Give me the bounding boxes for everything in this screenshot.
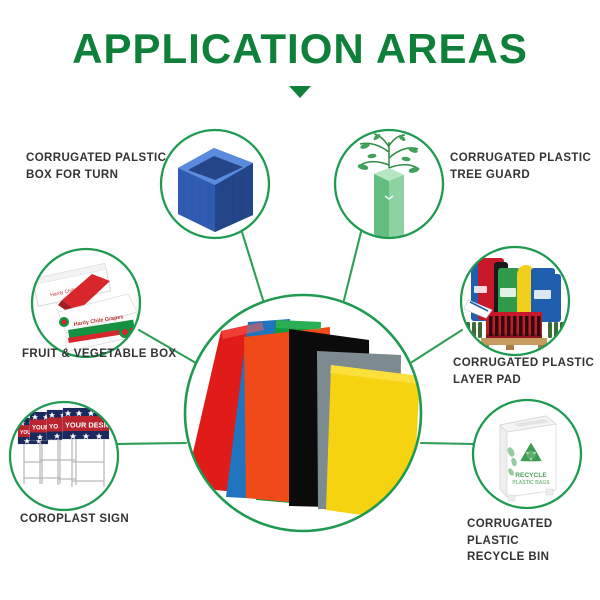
node-coroplast-sign[interactable]: YOU: [10, 402, 118, 510]
node-recycle-bin[interactable]: RECYCLE PLASTIC BAGS: [473, 400, 581, 508]
node-fruit-vegetable-box[interactable]: Hardy Chile Grapes Hardy Chile Grapes: [32, 249, 140, 357]
label-tree-guard: CORRUGATED PLASTIC TREE GUARD: [450, 150, 591, 183]
bin-text-secondary: PLASTIC BAGS: [512, 480, 550, 486]
label-coroplast-sign: COROPLAST SIGN: [20, 511, 129, 528]
node-tree-guard[interactable]: [335, 130, 443, 242]
bin-text-primary: RECYCLE: [515, 472, 547, 479]
label-box-for-turn: CORRUGATED PALSTIC BOX FOR TURN: [26, 150, 166, 183]
sheet-yellow: [326, 365, 420, 522]
svg-text:YO: YO: [49, 424, 58, 431]
label-layer-pad: CORRUGATED PLASTIC LAYER PAD: [453, 355, 594, 388]
node-box-for-turn[interactable]: [161, 130, 269, 238]
node-layer-pad[interactable]: [461, 247, 569, 355]
label-fruit-vegetable-box: FRUIT & VEGETABLE BOX: [22, 346, 177, 363]
center-node[interactable]: [185, 295, 421, 531]
infographic-canvas: APPLICATION AREAS: [0, 0, 600, 600]
label-recycle-bin: CORRUGATED PLASTIC RECYCLE BIN: [467, 516, 600, 566]
svg-text:YOU: YOU: [20, 430, 31, 436]
diagram-scene: Hardy Chile Grapes Hardy Chile Grapes: [0, 0, 600, 600]
